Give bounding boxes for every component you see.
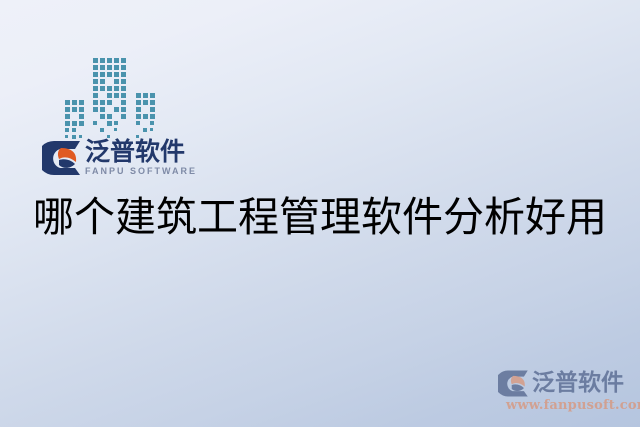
watermark-brand-name: 泛普软件	[532, 371, 624, 396]
watermark: 泛普软件 www.fanpusoft.com	[498, 369, 638, 413]
pixelated-building-skyline-icon	[64, 56, 174, 142]
promo-banner: 泛普软件 FANPU SOFTWARE 哪个建筑工程管理软件分析好用 泛普软件 …	[0, 0, 640, 427]
fanpu-logo-mark-icon	[42, 139, 82, 177]
watermark-url: www.fanpusoft.com	[506, 398, 638, 413]
brand-name-en: FANPU SOFTWARE	[85, 166, 197, 177]
brand-logo: 泛普软件 FANPU SOFTWARE	[42, 139, 197, 177]
page-title: 哪个建筑工程管理软件分析好用	[0, 193, 640, 241]
fanpu-logo-mark-watermark-icon	[498, 369, 530, 398]
brand-name-cn: 泛普软件	[85, 139, 197, 165]
